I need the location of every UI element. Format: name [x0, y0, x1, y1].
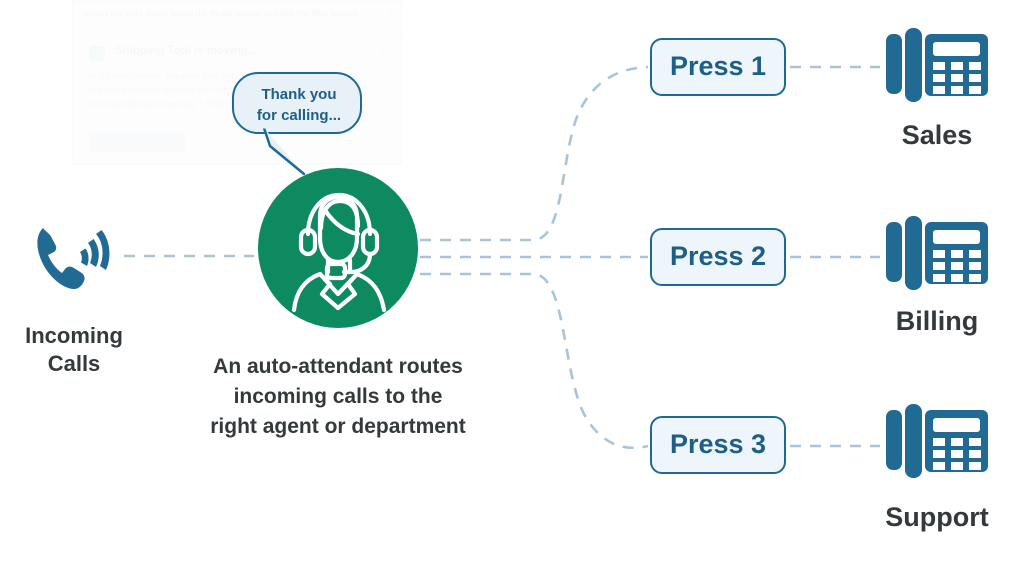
- press-3-label: Press 3: [652, 418, 784, 471]
- press-3-button[interactable]: Press 3: [650, 416, 786, 474]
- chevron-up-icon: ∧: [380, 49, 387, 60]
- wire-attendant-to-press-1: [420, 67, 648, 240]
- ghost-close-icon: ×: [388, 8, 393, 18]
- press-1-label: Press 1: [652, 40, 784, 93]
- department-label-sales: Sales: [812, 120, 1024, 151]
- attendant-caption-line1: An auto-attendant routes: [213, 355, 463, 378]
- auto-attendant-diagram: Select the snip mode using the Mode butt…: [0, 0, 1024, 564]
- greeting-text-line1: Thank you: [261, 86, 336, 103]
- department-label-billing: Billing: [812, 306, 1024, 337]
- speech-bubble-tail: [258, 126, 318, 178]
- ghost-title-text: Snipping Tool is moving...: [115, 45, 257, 57]
- ringing-phone-icon: [26, 210, 118, 302]
- ghost-app-icon: [89, 45, 105, 61]
- incoming-calls-label-line2: Calls: [48, 351, 101, 376]
- incoming-calls-label-line1: Incoming: [25, 323, 123, 348]
- attendant-caption-line2: incoming calls to the: [234, 385, 443, 408]
- desk-phone-icon: [884, 26, 990, 110]
- attendant-caption: An auto-attendant routes incoming calls …: [168, 352, 508, 442]
- ghost-button: [89, 133, 185, 152]
- greeting-speech-bubble: Thank you for calling...: [232, 72, 362, 134]
- auto-attendant-avatar: [258, 168, 418, 328]
- press-2-label: Press 2: [652, 230, 784, 283]
- department-label-support: Support: [812, 502, 1024, 533]
- connector-wires: [0, 0, 1024, 564]
- greeting-text: Thank you for calling...: [234, 84, 364, 126]
- attendant-caption-line3: right agent or department: [210, 415, 466, 438]
- greeting-text-line2: for calling...: [257, 107, 341, 124]
- press-1-button[interactable]: Press 1: [650, 38, 786, 96]
- ghost-hint-text: Select the snip mode using the Mode butt…: [83, 7, 373, 20]
- desk-phone-icon: [884, 402, 990, 486]
- desk-phone-icon: [884, 214, 990, 298]
- press-2-button[interactable]: Press 2: [650, 228, 786, 286]
- incoming-calls-label: Incoming Calls: [0, 322, 148, 378]
- ghost-divider: [73, 35, 401, 36]
